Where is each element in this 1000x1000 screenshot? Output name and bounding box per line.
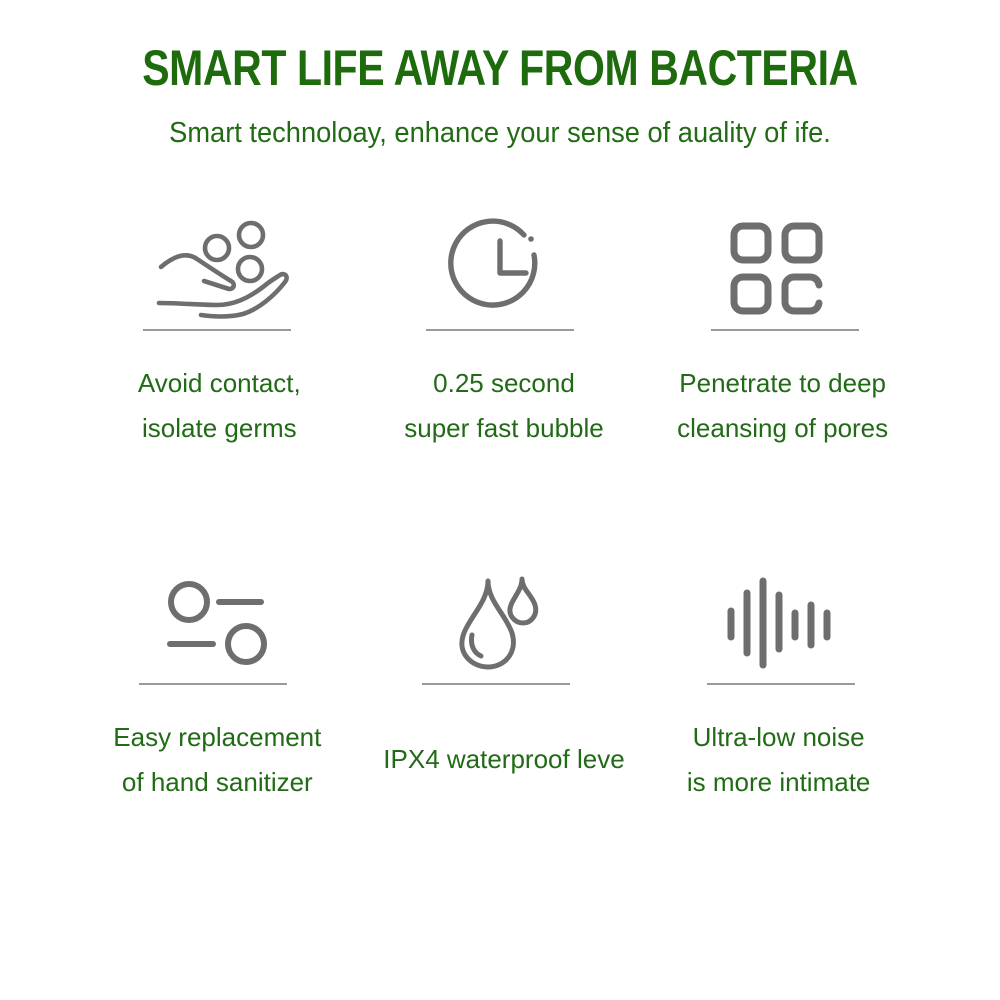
- feature-divider: [422, 683, 570, 685]
- feature-item: Easy replacement of hand sanitizer: [82, 569, 361, 805]
- feature-caption-line-1: Penetrate to deep: [677, 361, 888, 406]
- feature-caption: 0.25 second super fast bubble: [404, 361, 603, 451]
- sound-wave-icon: [725, 569, 833, 677]
- feature-caption: Ultra-low noise is more intimate: [687, 715, 871, 805]
- feature-caption-line-1: Ultra-low noise: [687, 715, 871, 760]
- feature-item: Ultra-low noise is more intimate: [639, 569, 918, 805]
- grid-squares-icon: [727, 215, 831, 323]
- clock-icon: [448, 215, 552, 323]
- feature-caption-line-2: isolate germs: [138, 406, 301, 451]
- feature-caption-line-1: Easy replacement: [113, 715, 321, 760]
- feature-caption-line-1: 0.25 second: [404, 361, 603, 406]
- page-title: SMART LIFE AWAY FROM BACTERIA: [90, 0, 910, 96]
- water-drop-icon: [454, 569, 546, 677]
- feature-caption: IPX4 waterproof leve: [383, 737, 624, 782]
- feature-caption-line-2: is more intimate: [687, 760, 871, 805]
- feature-caption: Penetrate to deep cleansing of pores: [677, 361, 888, 451]
- poster-header: SMART LIFE AWAY FROM BACTERIA Smart tech…: [0, 0, 1000, 150]
- feature-caption-line-2: of hand sanitizer: [113, 760, 321, 805]
- feature-caption-line-2: cleansing of pores: [677, 406, 888, 451]
- feature-item: 0.25 second super fast bubble: [361, 215, 640, 451]
- hand-bubbles-icon: [151, 215, 291, 323]
- feature-caption: Avoid contact, isolate germs: [138, 361, 301, 451]
- feature-divider: [426, 329, 574, 331]
- sliders-icon: [162, 569, 280, 677]
- feature-caption-line-1: IPX4 waterproof leve: [383, 737, 624, 782]
- feature-caption: Easy replacement of hand sanitizer: [113, 715, 321, 805]
- feature-divider: [707, 683, 855, 685]
- feature-row-2: Easy replacement of hand sanitizer IPX4 …: [82, 569, 918, 805]
- page-subtitle: Smart technoloay, enhance your sense of …: [30, 96, 970, 150]
- feature-divider: [711, 329, 859, 331]
- feature-item: IPX4 waterproof leve: [361, 569, 640, 805]
- feature-divider: [143, 329, 291, 331]
- feature-item: Avoid contact, isolate germs: [82, 215, 361, 451]
- feature-caption-line-2: super fast bubble: [404, 406, 603, 451]
- feature-divider: [139, 683, 287, 685]
- product-feature-poster: SMART LIFE AWAY FROM BACTERIA Smart tech…: [0, 0, 1000, 1000]
- feature-grid: Avoid contact, isolate germs 0.25 second…: [82, 215, 918, 805]
- feature-caption-line-1: Avoid contact,: [138, 361, 301, 406]
- feature-item: Penetrate to deep cleansing of pores: [639, 215, 918, 451]
- feature-row-1: Avoid contact, isolate germs 0.25 second…: [82, 215, 918, 451]
